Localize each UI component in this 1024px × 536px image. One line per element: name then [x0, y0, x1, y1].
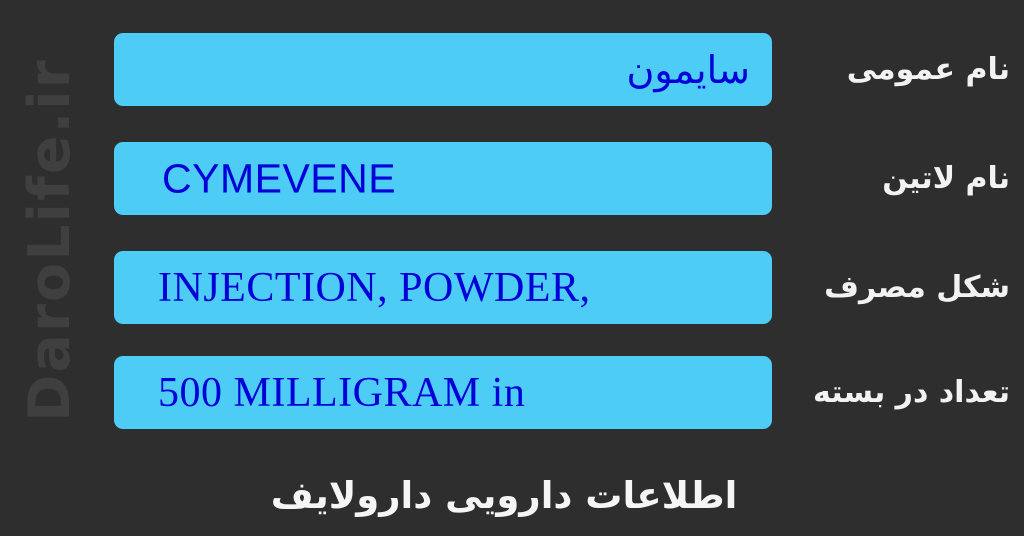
field-value-dosage-form: INJECTION, POWDER,	[114, 251, 772, 324]
field-label-generic-name: نام عمومی	[847, 55, 1010, 85]
table-row: 500 MILLIGRAM in تعداد در بسته	[0, 356, 1024, 429]
table-row: INJECTION, POWDER, شکل مصرف	[0, 251, 1024, 324]
footer-text: اطلاعات دارویی دارولایف	[271, 477, 738, 514]
field-value-latin-name: CYMEVENE	[114, 142, 772, 215]
info-rows: سایمون نام عمومی CYMEVENE نام لاتین INJE…	[0, 0, 1024, 446]
field-label-dosage-form: شکل مصرف	[824, 273, 1010, 303]
field-label-latin-name: نام لاتین	[882, 164, 1010, 194]
field-value-generic-name: سایمون	[114, 33, 772, 106]
value-text: INJECTION, POWDER,	[158, 267, 590, 309]
drug-info-card: DaroLife.ir سایمون نام عمومی CYMEVENE نا…	[0, 0, 1024, 536]
value-text: سایمون	[627, 51, 751, 89]
table-row: CYMEVENE نام لاتین	[0, 142, 1024, 215]
footer: اطلاعات دارویی دارولایف	[0, 455, 1024, 536]
field-value-package-count: 500 MILLIGRAM in	[114, 356, 772, 429]
table-row: سایمون نام عمومی	[0, 33, 1024, 106]
value-text: 500 MILLIGRAM in	[158, 372, 525, 414]
field-label-package-count: تعداد در بسته	[813, 378, 1010, 408]
value-text: CYMEVENE	[162, 158, 396, 199]
